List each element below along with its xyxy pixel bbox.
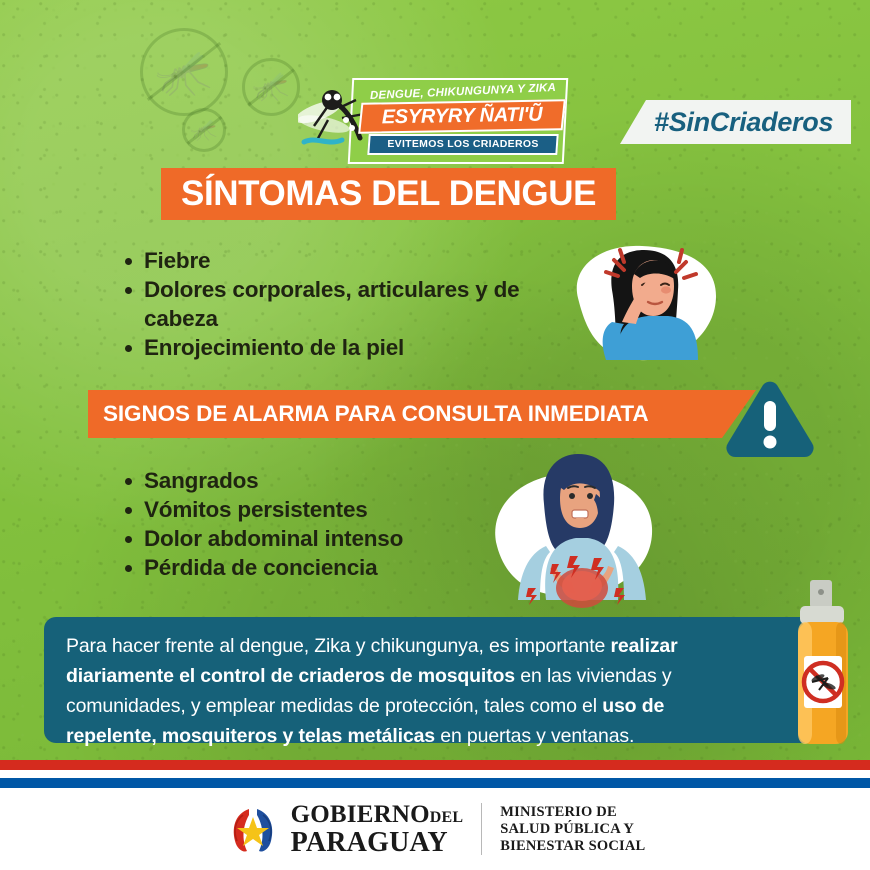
badge-subtitle: EVITEMOS LOS CRIADEROS bbox=[370, 136, 556, 153]
flag-stripe-white bbox=[0, 770, 870, 778]
mosquito-repellent-spray-illustration bbox=[786, 578, 860, 754]
gov-line-1: GOBIERNODEL bbox=[291, 802, 464, 827]
badge-subtitle-band: EVITEMOS LOS CRIADEROS bbox=[367, 134, 558, 155]
campaign-badge: DENGUE, CHIKUNGUNYA Y ZIKA ESYRYRY ÑATI'… bbox=[298, 78, 566, 164]
woman-with-headache-illustration bbox=[556, 228, 732, 376]
warning-triangle-icon bbox=[724, 379, 816, 459]
page-title: SÍNTOMAS DEL DENGUE bbox=[161, 168, 616, 220]
gov-line-2: PARAGUAY bbox=[291, 829, 464, 857]
ministry-line-3: BIENESTAR SOCIAL bbox=[500, 838, 645, 855]
mosquito-icon: 🦟 bbox=[155, 49, 212, 95]
prevention-paragraph: Para hacer frente al dengue, Zika y chik… bbox=[66, 631, 708, 751]
footer-inner: GOBIERNODEL PARAGUAY MINISTERIO DE SALUD… bbox=[225, 801, 646, 857]
symptoms-list: Fiebre Dolores corporales, articulares y… bbox=[118, 246, 564, 362]
ministry-line-1: MINISTERIO DE bbox=[500, 804, 645, 821]
hashtag-label: #SinCriaderos bbox=[654, 107, 833, 138]
hashtag-banner: #SinCriaderos bbox=[620, 100, 851, 144]
info-part1: Para hacer frente al dengue, Zika y chik… bbox=[66, 635, 610, 657]
paraguay-coat-of-arms-icon bbox=[225, 801, 281, 857]
footer: GOBIERNODEL PARAGUAY MINISTERIO DE SALUD… bbox=[0, 788, 870, 870]
woman-with-abdominal-pain-illustration bbox=[484, 446, 664, 616]
mosquito-icon: 🦟 bbox=[252, 72, 289, 102]
ministry-line-2: SALUD PÚBLICA Y bbox=[500, 821, 645, 838]
footer-divider bbox=[481, 803, 482, 855]
info-part3: en puertas y ventanas. bbox=[435, 725, 634, 747]
alarm-banner: SIGNOS DE ALARMA PARA CONSULTA INMEDIATA bbox=[88, 390, 756, 438]
alarm-banner-text: SIGNOS DE ALARMA PARA CONSULTA INMEDIATA bbox=[88, 401, 649, 427]
flag-stripe-red bbox=[0, 760, 870, 770]
badge-name: ESYRYRY ÑATI'Ũ bbox=[362, 101, 563, 131]
ministry-wordmark: MINISTERIO DE SALUD PÚBLICA Y BIENESTAR … bbox=[500, 804, 645, 855]
list-item: Enrojecimiento de la piel bbox=[144, 333, 564, 362]
dengue-symptoms-infographic: 🦟 🦟 🦟 DENGUE, CHIKUNGUNYA Y ZIKA ESYRYRY… bbox=[0, 0, 870, 870]
mosquito-icon: 🦟 bbox=[190, 119, 217, 141]
gov-line-1-small: DEL bbox=[430, 809, 464, 826]
alarm-signs-list: Sangrados Vómitos persistentes Dolor abd… bbox=[118, 466, 544, 582]
flag-stripe-blue bbox=[0, 778, 870, 788]
list-item: Dolores corporales, articulares y de cab… bbox=[144, 275, 564, 333]
government-wordmark: GOBIERNODEL PARAGUAY bbox=[291, 802, 464, 857]
no-mosquito-watermark-large: 🦟 bbox=[140, 28, 228, 116]
list-item: Fiebre bbox=[144, 246, 564, 275]
no-mosquito-watermark-small: 🦟 bbox=[182, 108, 226, 152]
no-mosquito-watermark-medium: 🦟 bbox=[242, 58, 300, 116]
gov-line-1-main: GOBIERNO bbox=[291, 801, 430, 828]
page-title-text: SÍNTOMAS DEL DENGUE bbox=[181, 174, 596, 214]
badge-name-band: ESYRYRY ÑATI'Ũ bbox=[358, 99, 566, 134]
prevention-info-box: Para hacer frente al dengue, Zika y chik… bbox=[44, 617, 828, 743]
